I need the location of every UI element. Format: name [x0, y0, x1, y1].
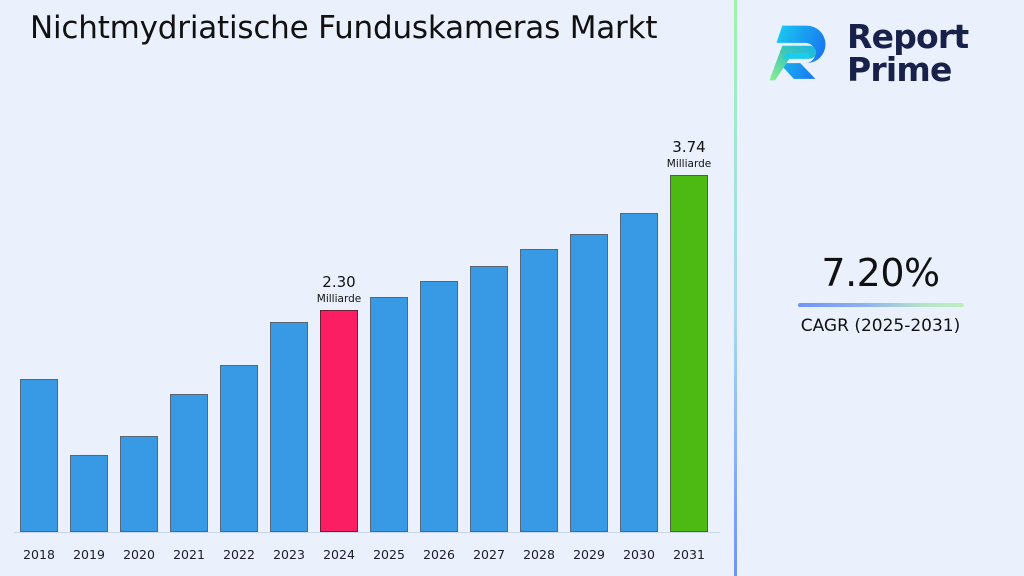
x-axis-label-2018: 2018 [14, 547, 64, 562]
x-axis-label-2019: 2019 [64, 547, 114, 562]
cagr-value: 7.20% [737, 250, 1024, 296]
bar-2029[interactable] [570, 234, 608, 532]
bar-group-2021: 2021 [170, 0, 208, 576]
cagr-divider-rule [798, 303, 964, 307]
bar-value-2031: 3.74 [654, 138, 724, 157]
bar-chart-plot-area: 20182019202020212022202320242.30Milliard… [0, 0, 735, 576]
bar-group-2030: 2030 [620, 0, 658, 576]
bar-group-2023: 2023 [270, 0, 308, 576]
bar-2027[interactable] [470, 266, 508, 532]
x-axis-label-2020: 2020 [114, 547, 164, 562]
x-axis-label-2026: 2026 [414, 547, 464, 562]
report-prime-logo-icon [765, 17, 837, 89]
bar-group-2022: 2022 [220, 0, 258, 576]
screenshot-root: Nichtmydriatische Funduskameras Markt 20… [0, 0, 1024, 576]
bar-2031[interactable] [670, 175, 708, 532]
cagr-block: 7.20% CAGR (2025-2031) [737, 250, 1024, 337]
cagr-label: CAGR (2025-2031) [737, 315, 1024, 337]
bar-value-2024: 2.30 [304, 273, 374, 292]
brand-logo: Report Prime [765, 12, 1015, 94]
x-axis-label-2025: 2025 [364, 547, 414, 562]
bar-2026[interactable] [420, 281, 458, 532]
brand-panel: Report Prime 7.20% CAGR (2025-2031) [737, 0, 1024, 576]
bar-group-2024: 20242.30Milliarde [320, 0, 358, 576]
bar-2021[interactable] [170, 394, 208, 532]
brand-wordmark-line1: Report [847, 20, 968, 53]
bar-2025[interactable] [370, 297, 408, 532]
bar-2020[interactable] [120, 436, 158, 532]
x-axis-label-2028: 2028 [514, 547, 564, 562]
bar-2024[interactable] [320, 310, 358, 532]
x-axis-label-2023: 2023 [264, 547, 314, 562]
bar-2019[interactable] [70, 455, 108, 532]
bar-2018[interactable] [20, 379, 58, 532]
bar-2023[interactable] [270, 322, 308, 532]
bar-2028[interactable] [520, 249, 558, 532]
x-axis-label-2022: 2022 [214, 547, 264, 562]
bar-group-2020: 2020 [120, 0, 158, 576]
x-axis-label-2029: 2029 [564, 547, 614, 562]
chart-panel: Nichtmydriatische Funduskameras Markt 20… [0, 0, 735, 576]
bar-group-2029: 2029 [570, 0, 608, 576]
x-axis-label-2024: 2024 [314, 547, 364, 562]
bar-value-callout-2031: 3.74Milliarde [654, 138, 724, 171]
bar-group-2031: 20313.74Milliarde [670, 0, 708, 576]
bar-group-2019: 2019 [70, 0, 108, 576]
bar-group-2025: 2025 [370, 0, 408, 576]
bar-group-2026: 2026 [420, 0, 458, 576]
bar-group-2028: 2028 [520, 0, 558, 576]
bar-value-callout-2024: 2.30Milliarde [304, 273, 374, 306]
x-axis-label-2021: 2021 [164, 547, 214, 562]
bar-group-2018: 2018 [20, 0, 58, 576]
x-axis-label-2030: 2030 [614, 547, 664, 562]
x-axis-label-2031: 2031 [664, 547, 714, 562]
bar-2022[interactable] [220, 365, 258, 532]
bar-group-2027: 2027 [470, 0, 508, 576]
x-axis-label-2027: 2027 [464, 547, 514, 562]
bar-unit-2031: Milliarde [654, 157, 724, 171]
brand-wordmark: Report Prime [847, 20, 968, 86]
bar-2030[interactable] [620, 213, 658, 532]
brand-wordmark-line2: Prime [847, 53, 968, 86]
bar-unit-2024: Milliarde [304, 292, 374, 306]
